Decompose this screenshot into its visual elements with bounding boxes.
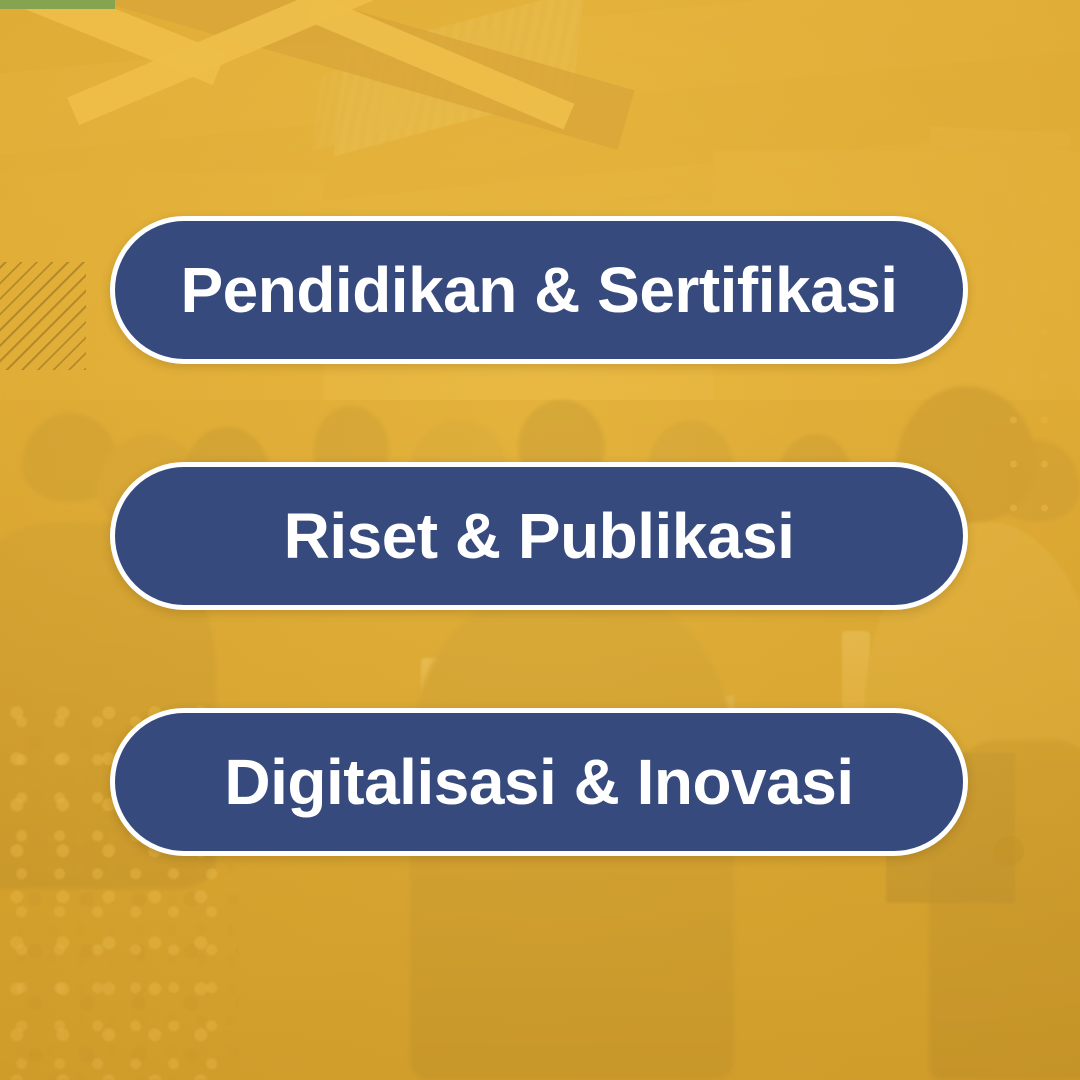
pill-button-digitalisasi-inovasi[interactable]: Digitalisasi & Inovasi xyxy=(110,708,968,856)
pill-button-group: Pendidikan & Sertifikasi Riset & Publika… xyxy=(0,0,1080,1080)
poster-canvas: Pendidikan & Sertifikasi Riset & Publika… xyxy=(0,0,1080,1080)
pill-button-pendidikan-sertifikasi[interactable]: Pendidikan & Sertifikasi xyxy=(110,216,968,364)
pill-label: Pendidikan & Sertifikasi xyxy=(180,258,897,322)
pill-button-riset-publikasi[interactable]: Riset & Publikasi xyxy=(110,462,968,610)
pill-label: Riset & Publikasi xyxy=(284,504,795,568)
pill-label: Digitalisasi & Inovasi xyxy=(224,750,853,814)
